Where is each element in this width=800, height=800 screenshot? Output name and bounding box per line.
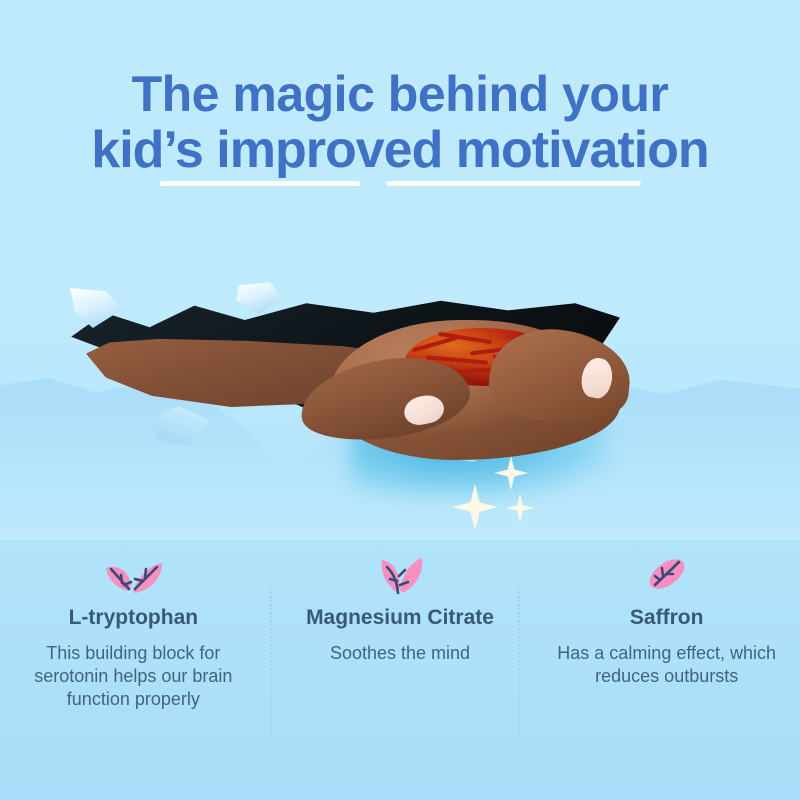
headline-line-1: The magic behind your [0, 66, 800, 122]
ingredient-list: L-tryptophan This building block for ser… [0, 552, 800, 767]
underline-segment-left [160, 181, 360, 186]
ingredient-name: Magnesium Citrate [281, 606, 520, 630]
column-divider [270, 588, 272, 738]
page-title: The magic behind your kid’s improved mot… [0, 66, 800, 178]
ingredient-name: Saffron [547, 606, 786, 630]
paper-flap-b [236, 282, 282, 314]
headline-underline [0, 181, 800, 191]
ingredient-name: L-tryptophan [14, 606, 253, 630]
ingredient-description: Soothes the mind [281, 642, 520, 665]
leaf-sprout-icon [281, 552, 520, 596]
leaf-single-icon [547, 552, 786, 596]
promo-graphic: The magic behind your kid’s improved mot… [0, 0, 800, 800]
underline-segment-right [386, 181, 641, 186]
ingredient-card-magnesium-citrate: Magnesium Citrate Soothes the mind [267, 552, 534, 767]
column-divider [518, 588, 520, 738]
ingredient-card-l-tryptophan: L-tryptophan This building block for ser… [0, 552, 267, 767]
headline-line-2: kid’s improved motivation [0, 122, 800, 178]
leaf-double-icon [14, 552, 253, 596]
ingredient-description: This building block for serotonin helps … [14, 642, 253, 711]
ingredient-description: Has a calming effect, which reduces outb… [547, 642, 786, 688]
hero-image [0, 210, 800, 540]
ingredient-card-saffron: Saffron Has a calming effect, which redu… [533, 552, 800, 767]
